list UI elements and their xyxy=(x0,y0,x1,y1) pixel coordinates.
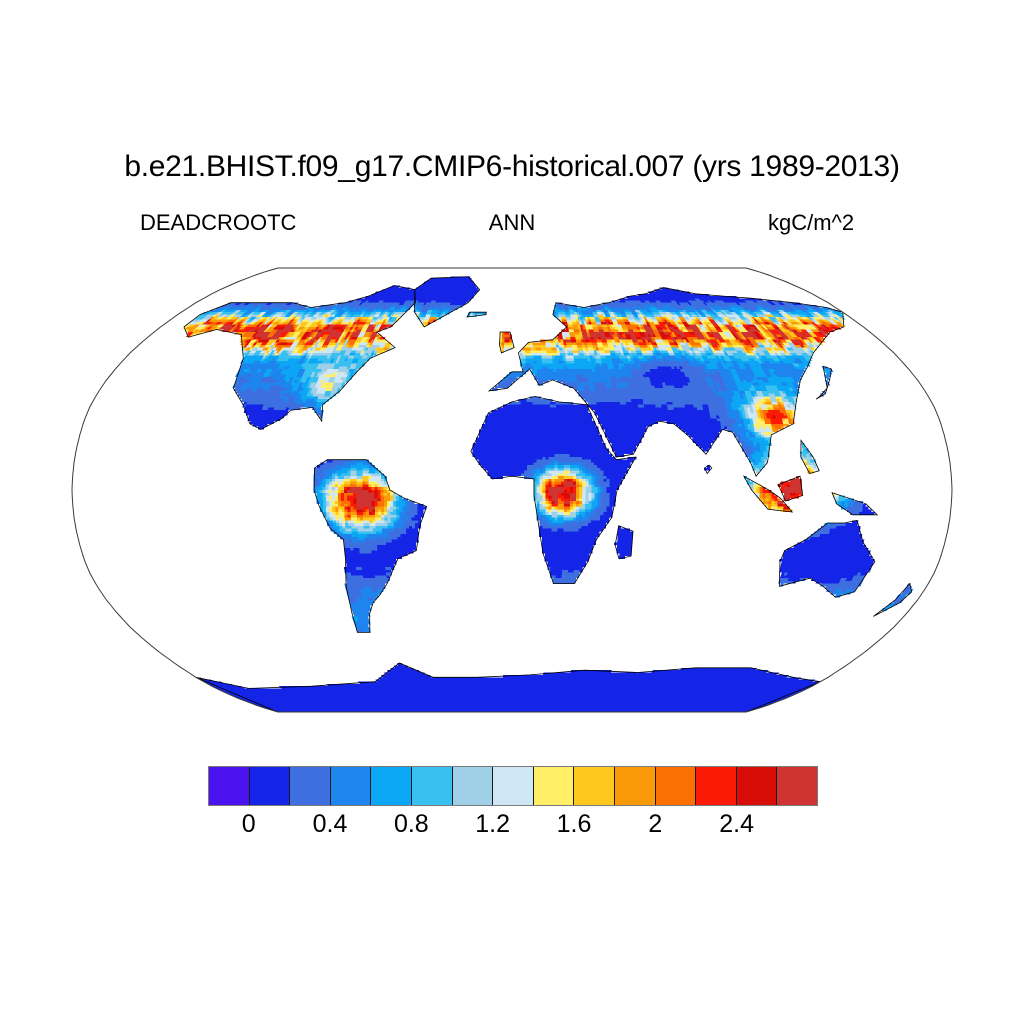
colorbar-segment xyxy=(412,767,453,805)
colorbar-segment xyxy=(696,767,737,805)
colorbar[interactable] xyxy=(208,766,818,806)
colorbar-segment xyxy=(250,767,291,805)
colorbar-tick: 1.2 xyxy=(475,812,510,837)
colorbar-segment xyxy=(737,767,778,805)
colorbar-segment xyxy=(656,767,697,805)
colorbar-segment xyxy=(534,767,575,805)
colorbar-tick: 0 xyxy=(242,812,256,837)
map-raster xyxy=(182,277,914,712)
colorbar-tick: 1.6 xyxy=(557,812,592,837)
figure-panel: b.e21.BHIST.f09_g17.CMIP6-historical.007… xyxy=(0,0,1024,1024)
page-title: b.e21.BHIST.f09_g17.CMIP6-historical.007… xyxy=(0,152,1024,182)
robinson-map xyxy=(28,250,996,730)
colorbar-segment xyxy=(777,767,817,805)
colorbar-segment xyxy=(493,767,534,805)
colorbar-segment xyxy=(453,767,494,805)
colorbar-segment xyxy=(290,767,331,805)
colorbar-tick: 0.8 xyxy=(394,812,429,837)
season-label: ANN xyxy=(0,212,1024,234)
colorbar-tick: 2.4 xyxy=(719,812,754,837)
colorbar-segment xyxy=(574,767,615,805)
colorbar-segment xyxy=(615,767,656,805)
colorbar-tick: 2 xyxy=(648,812,662,837)
colorbar-tick-labels: 00.40.81.21.622.4 xyxy=(208,812,818,846)
map-canvas xyxy=(28,250,996,730)
colorbar-segment xyxy=(331,767,372,805)
units-label: kgC/m^2 xyxy=(768,212,854,234)
colorbar-segment xyxy=(209,767,250,805)
colorbar-segment xyxy=(371,767,412,805)
colorbar-tick: 0.4 xyxy=(313,812,348,837)
